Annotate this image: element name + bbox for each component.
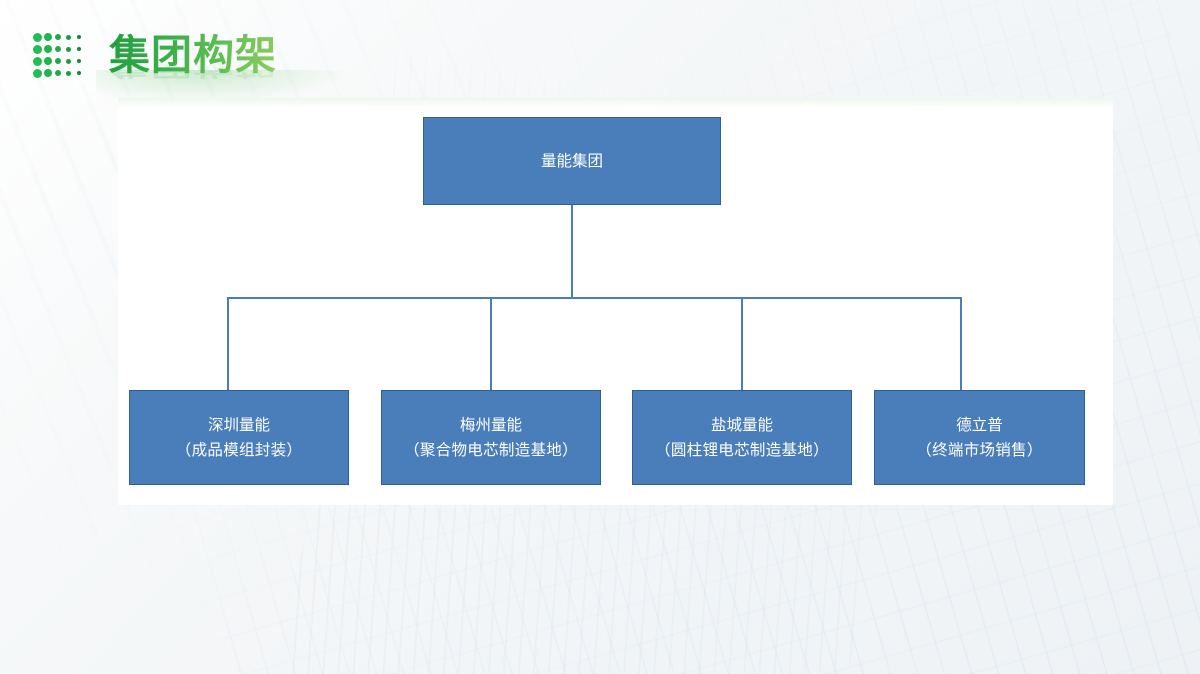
org-node-meizhou[interactable]: 梅州量能 （聚合物电芯制造基地） — [381, 390, 601, 485]
org-node-delipu-line1: 德立普 — [956, 413, 1003, 438]
org-node-shenzhen[interactable]: 深圳量能 （成品模组封装） — [129, 390, 349, 485]
connector-drop-2 — [741, 297, 743, 390]
org-node-yancheng-line2: （圆柱锂电芯制造基地） — [655, 438, 829, 463]
connector-drop-0 — [227, 297, 229, 390]
connector-root-vertical — [571, 205, 573, 298]
connector-horizontal-bus — [227, 297, 962, 299]
org-node-delipu-line2: （终端市场销售） — [916, 438, 1042, 463]
org-node-root-label: 量能集团 — [541, 149, 603, 174]
org-node-root[interactable]: 量能集团 — [423, 117, 721, 205]
org-node-shenzhen-line1: 深圳量能 — [208, 413, 270, 438]
title-wrap: 集团构架 集团构架 — [109, 28, 277, 84]
org-node-yancheng-line1: 盐城量能 — [711, 413, 773, 438]
connector-drop-1 — [490, 297, 492, 390]
slide: 集团构架 集团构架 量能集团 深圳量能 （成品模组封装） 梅州量能 — [0, 0, 1200, 674]
org-chart: 量能集团 深圳量能 （成品模组封装） 梅州量能 （聚合物电芯制造基地） 盐城量能… — [118, 98, 1113, 505]
org-node-shenzhen-line2: （成品模组封装） — [176, 438, 302, 463]
connector-drop-3 — [960, 297, 962, 390]
slide-header: 集团构架 集团构架 — [0, 0, 1200, 98]
org-node-meizhou-line2: （聚合物电芯制造基地） — [404, 438, 578, 463]
org-node-meizhou-line1: 梅州量能 — [460, 413, 522, 438]
org-node-delipu[interactable]: 德立普 （终端市场销售） — [874, 390, 1085, 485]
page-title: 集团构架 — [109, 28, 277, 82]
org-node-yancheng[interactable]: 盐城量能 （圆柱锂电芯制造基地） — [632, 390, 852, 485]
content-panel: 量能集团 深圳量能 （成品模组封装） 梅州量能 （聚合物电芯制造基地） 盐城量能… — [118, 98, 1113, 505]
dot-grid-icon — [32, 31, 84, 79]
